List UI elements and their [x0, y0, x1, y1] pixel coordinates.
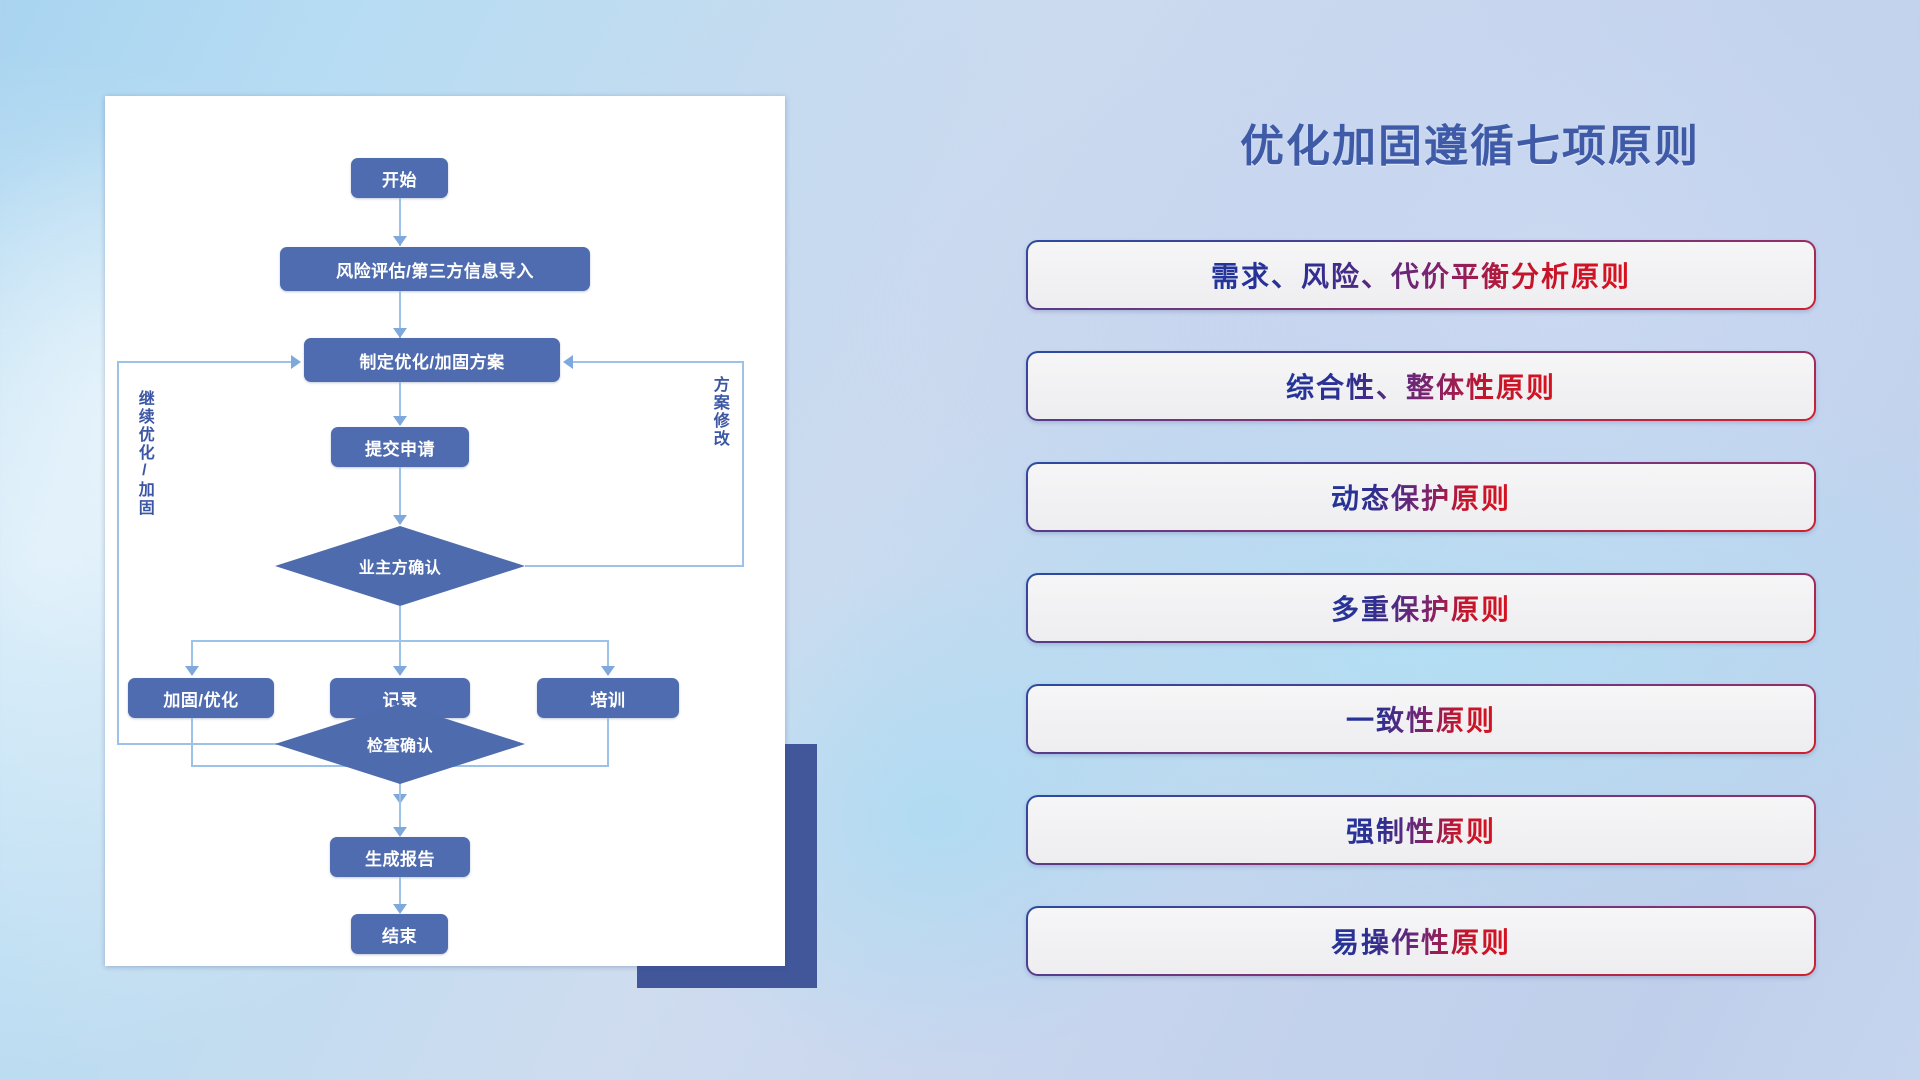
- principle-label: 强制性原则: [1346, 810, 1496, 850]
- principles-list: 需求、风险、代价平衡分析原则 综合性、整体性原则 动态保护原则 多重保护原则 一…: [1026, 240, 1816, 1017]
- principle-label: 综合性、整体性原则: [1286, 366, 1556, 406]
- flow-node-plan[interactable]: 制定优化/加固方案: [304, 338, 560, 382]
- connector-right-to-plan: [573, 361, 743, 363]
- flow-node-reinforce[interactable]: 加固/优化: [128, 678, 274, 718]
- arrow-branch-left: [185, 666, 199, 676]
- principle-card[interactable]: 强制性原则: [1026, 795, 1816, 865]
- principle-card[interactable]: 综合性、整体性原则: [1026, 351, 1816, 421]
- flow-node-report[interactable]: 生成报告: [330, 837, 470, 877]
- connector-left-to-plan: [117, 361, 292, 363]
- arrow-start-assess: [393, 236, 407, 246]
- connector-merge-right: [607, 718, 609, 766]
- flow-node-train[interactable]: 培训: [537, 678, 679, 718]
- connector-left-up: [117, 361, 119, 745]
- principle-label: 易操作性原则: [1331, 921, 1511, 961]
- principle-label: 动态保护原则: [1331, 477, 1511, 517]
- edge-label-left-loop: 继续优化/加固: [135, 390, 152, 517]
- connector-check-left: [117, 743, 297, 745]
- arrow-submit-owner: [393, 515, 407, 525]
- flow-node-assess[interactable]: 风险评估/第三方信息导入: [280, 247, 590, 291]
- principle-card[interactable]: 需求、风险、代价平衡分析原则: [1026, 240, 1816, 310]
- connector-merge-left: [191, 718, 193, 766]
- connector-right-up: [742, 361, 744, 566]
- flow-node-owner-confirm[interactable]: 业主方确认: [275, 526, 525, 606]
- principle-label: 需求、风险、代价平衡分析原则: [1211, 255, 1631, 295]
- arrow-report-end: [393, 904, 407, 914]
- arrow-branch-mid: [393, 666, 407, 676]
- principle-card[interactable]: 动态保护原则: [1026, 462, 1816, 532]
- principle-label: 一致性原则: [1346, 699, 1496, 739]
- flowchart-canvas: 开始 风险评估/第三方信息导入 制定优化/加固方案 提交申请 业主方确认 方案修…: [105, 96, 785, 966]
- page-title: 优化加固遵循七项原则: [1150, 110, 1790, 174]
- edge-label-right-loop: 方案修改: [710, 376, 727, 448]
- arrow-assess-plan: [393, 328, 407, 338]
- flow-node-start[interactable]: 开始: [351, 158, 448, 198]
- arrow-right-into-plan: [563, 355, 573, 369]
- connector-owner-down: [399, 606, 401, 641]
- arrow-plan-submit: [393, 416, 407, 426]
- flow-node-submit[interactable]: 提交申请: [331, 427, 469, 467]
- connector-owner-right: [525, 565, 744, 567]
- principle-card[interactable]: 一致性原则: [1026, 684, 1816, 754]
- principle-label: 多重保护原则: [1331, 588, 1511, 628]
- principle-card[interactable]: 易操作性原则: [1026, 906, 1816, 976]
- arrow-check-report: [393, 827, 407, 837]
- arrow-left-into-plan: [291, 355, 301, 369]
- flow-node-check-confirm[interactable]: 检查确认: [275, 704, 525, 784]
- principle-card[interactable]: 多重保护原则: [1026, 573, 1816, 643]
- flow-node-end[interactable]: 结束: [351, 914, 448, 954]
- arrow-branch-right: [601, 666, 615, 676]
